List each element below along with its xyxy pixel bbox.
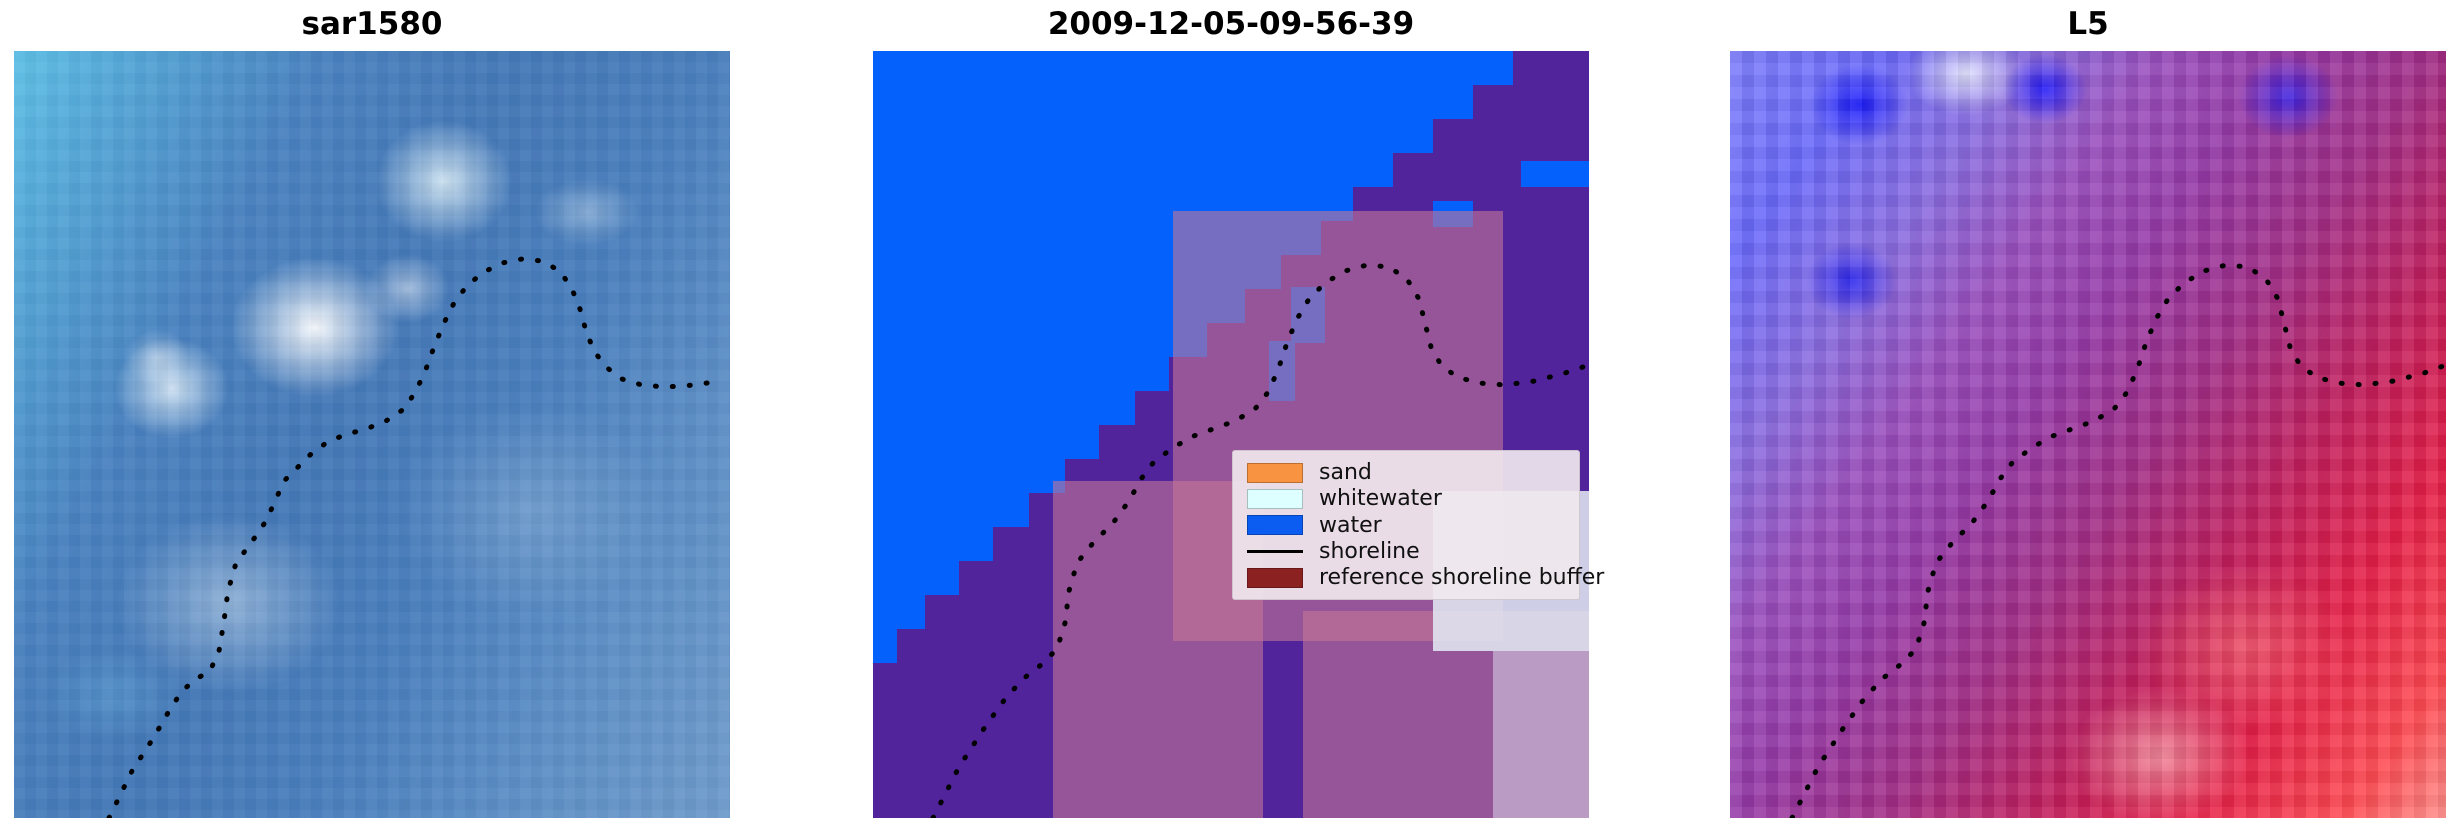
- legend-label-water: water: [1319, 513, 1382, 538]
- l5-image: [1730, 51, 2446, 818]
- panel-title-classification: 2009-12-05-09-56-39: [873, 4, 1589, 44]
- panel-sar[interactable]: [14, 51, 730, 818]
- sar-image: [14, 51, 730, 818]
- legend-box[interactable]: sand whitewater water shoreline referenc…: [1232, 450, 1580, 600]
- legend-item-sand: sand: [1233, 460, 1579, 485]
- whitewater-patch: [1493, 651, 1589, 818]
- whitewater-swatch-icon: [1247, 489, 1303, 509]
- l5-pixel-noise: [1730, 51, 2446, 818]
- panel-title-l5: L5: [1730, 4, 2446, 44]
- legend-item-reference-buffer: reference shoreline buffer: [1233, 565, 1579, 590]
- legend-label-whitewater: whitewater: [1319, 486, 1442, 511]
- legend-label-shoreline: shoreline: [1319, 539, 1420, 564]
- figure-canvas: sar1580 2009-12-05-09-56-39: [0, 0, 2460, 834]
- legend-item-shoreline: shoreline: [1233, 539, 1579, 564]
- panel-classification[interactable]: [873, 51, 1589, 818]
- classification-image: [873, 51, 1589, 818]
- legend-item-whitewater: whitewater: [1233, 486, 1579, 511]
- water-swatch-icon: [1247, 515, 1303, 535]
- legend-label-reference-buffer: reference shoreline buffer: [1319, 565, 1604, 590]
- shoreline-line-icon: [1247, 541, 1303, 561]
- panel-l5[interactable]: [1730, 51, 2446, 818]
- legend-item-water: water: [1233, 513, 1579, 538]
- sand-swatch-icon: [1247, 463, 1303, 483]
- panel-title-sar: sar1580: [14, 4, 730, 44]
- legend-label-sand: sand: [1319, 460, 1372, 485]
- sar-pixel-noise: [14, 51, 730, 818]
- reference-buffer-swatch-icon: [1247, 568, 1303, 588]
